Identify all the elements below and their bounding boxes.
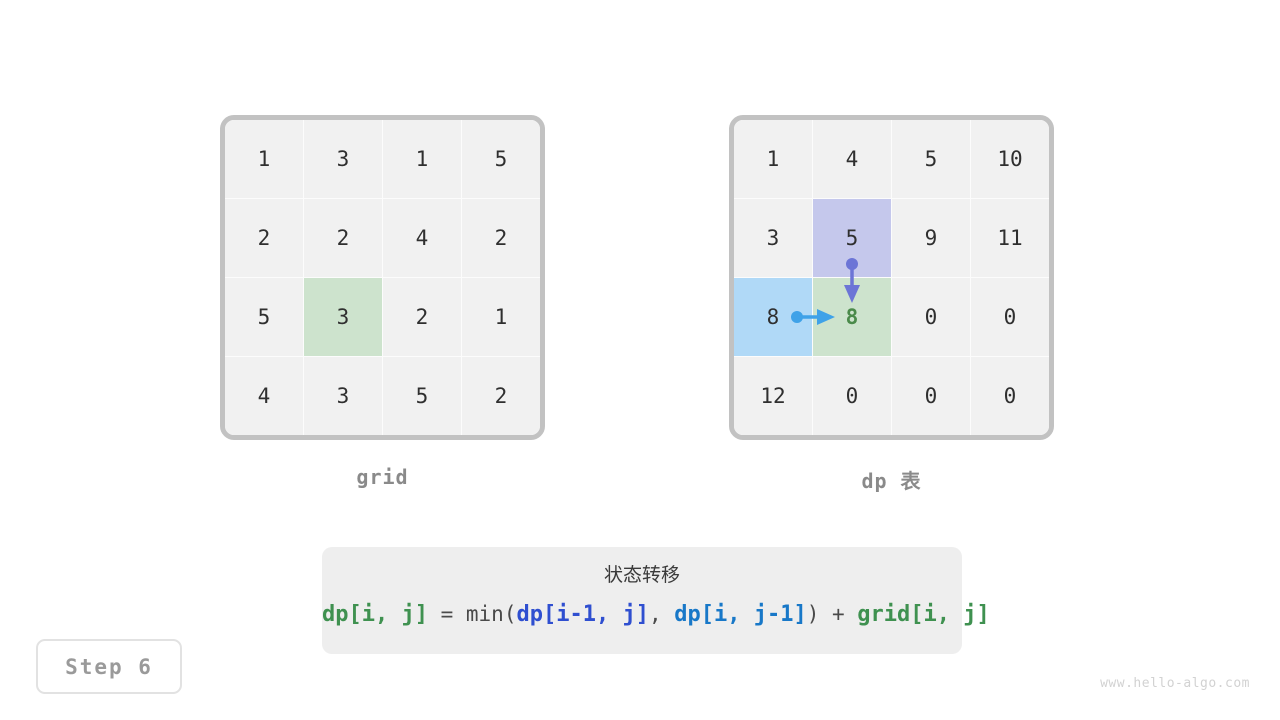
dp-value: 11 [997,226,1022,250]
dp-cell-1-0: 3 [734,199,812,277]
formula-token-5: ) + [807,602,858,626]
dp-value: 0 [1004,384,1017,408]
formula-token-2: dp[i-1, j] [516,602,648,627]
dp-value: 1 [767,147,780,171]
dp-cell-3-0: 12 [734,357,812,435]
dp-cell-3-3: 0 [971,357,1049,435]
grid-value: 4 [416,226,429,250]
grid-value: 1 [495,305,508,329]
grid-cell-2-3: 1 [462,278,540,356]
formula-token-4: dp[i, j-1] [674,602,806,627]
dp-cell-3-2: 0 [892,357,970,435]
dp-caption: dp 表 [729,465,1054,494]
dp-value: 8 [767,305,780,329]
grid-value: 2 [258,226,271,250]
dp-matrix: 1451035911880012000 [729,115,1054,440]
grid-value: 2 [495,384,508,408]
formula-token-6: grid[i, j] [857,602,989,627]
dp-value: 3 [767,226,780,250]
dp-cell-3-1: 0 [813,357,891,435]
grid-matrix: 1315224253214352 [220,115,545,440]
formula-token-3: , [649,602,674,626]
dp-cell-0-2: 5 [892,120,970,198]
formula-token-1: = min( [428,602,517,626]
grid-value: 5 [258,305,271,329]
grid-cell-0-1: 3 [304,120,382,198]
dp-cell-1-3: 11 [971,199,1049,277]
dp-cell-2-0: 8 [734,278,812,356]
grid-cell-2-0: 5 [225,278,303,356]
grid-cell-1-1: 2 [304,199,382,277]
dp-matrix-container: 1451035911880012000 [729,115,1054,440]
watermark: www.hello-algo.com [1100,676,1250,691]
formula-token-0: dp[i, j] [322,602,428,627]
grid-value: 3 [337,305,350,329]
grid-cell-2-1: 3 [304,278,382,356]
grid-cell-3-3: 2 [462,357,540,435]
grid-value: 2 [416,305,429,329]
dp-value: 12 [760,384,785,408]
state-transition-title: 状态转移 [322,560,962,590]
grid-cell-0-3: 5 [462,120,540,198]
grid-caption: grid [220,465,545,489]
dp-value: 0 [846,384,859,408]
dp-cell-2-1: 8 [813,278,891,356]
dp-cell-2-2: 0 [892,278,970,356]
step-badge: Step 6 [36,639,182,694]
dp-value: 4 [846,147,859,171]
dp-value: 9 [925,226,938,250]
grid-value: 3 [337,384,350,408]
grid-value: 2 [337,226,350,250]
dp-value: 8 [846,305,859,329]
dp-cell-2-3: 0 [971,278,1049,356]
state-transition-panel: 状态转移 dp[i, j] = min(dp[i-1, j], dp[i, j-… [322,547,962,654]
grid-cell-0-0: 1 [225,120,303,198]
dp-cell-0-3: 10 [971,120,1049,198]
dp-value: 10 [997,147,1022,171]
grid-cell-2-2: 2 [383,278,461,356]
grid-cell-3-0: 4 [225,357,303,435]
grid-value: 5 [416,384,429,408]
grid-value: 3 [337,147,350,171]
grid-value: 1 [416,147,429,171]
state-transition-formula: dp[i, j] = min(dp[i-1, j], dp[i, j-1]) +… [322,597,962,632]
grid-value: 1 [258,147,271,171]
grid-value: 2 [495,226,508,250]
grid-cell-3-2: 5 [383,357,461,435]
dp-cell-0-1: 4 [813,120,891,198]
dp-value: 5 [925,147,938,171]
grid-cell-1-2: 4 [383,199,461,277]
grid-cell-1-0: 2 [225,199,303,277]
dp-cell-0-0: 1 [734,120,812,198]
dp-cell-1-2: 9 [892,199,970,277]
dp-value: 0 [925,305,938,329]
grid-cell-1-3: 2 [462,199,540,277]
grid-cell-0-2: 1 [383,120,461,198]
grid-matrix-container: 1315224253214352 [220,115,545,440]
dp-value: 0 [925,384,938,408]
grid-value: 5 [495,147,508,171]
grid-value: 4 [258,384,271,408]
grid-cell-3-1: 3 [304,357,382,435]
dp-value: 5 [846,226,859,250]
dp-value: 0 [1004,305,1017,329]
dp-cell-1-1: 5 [813,199,891,277]
